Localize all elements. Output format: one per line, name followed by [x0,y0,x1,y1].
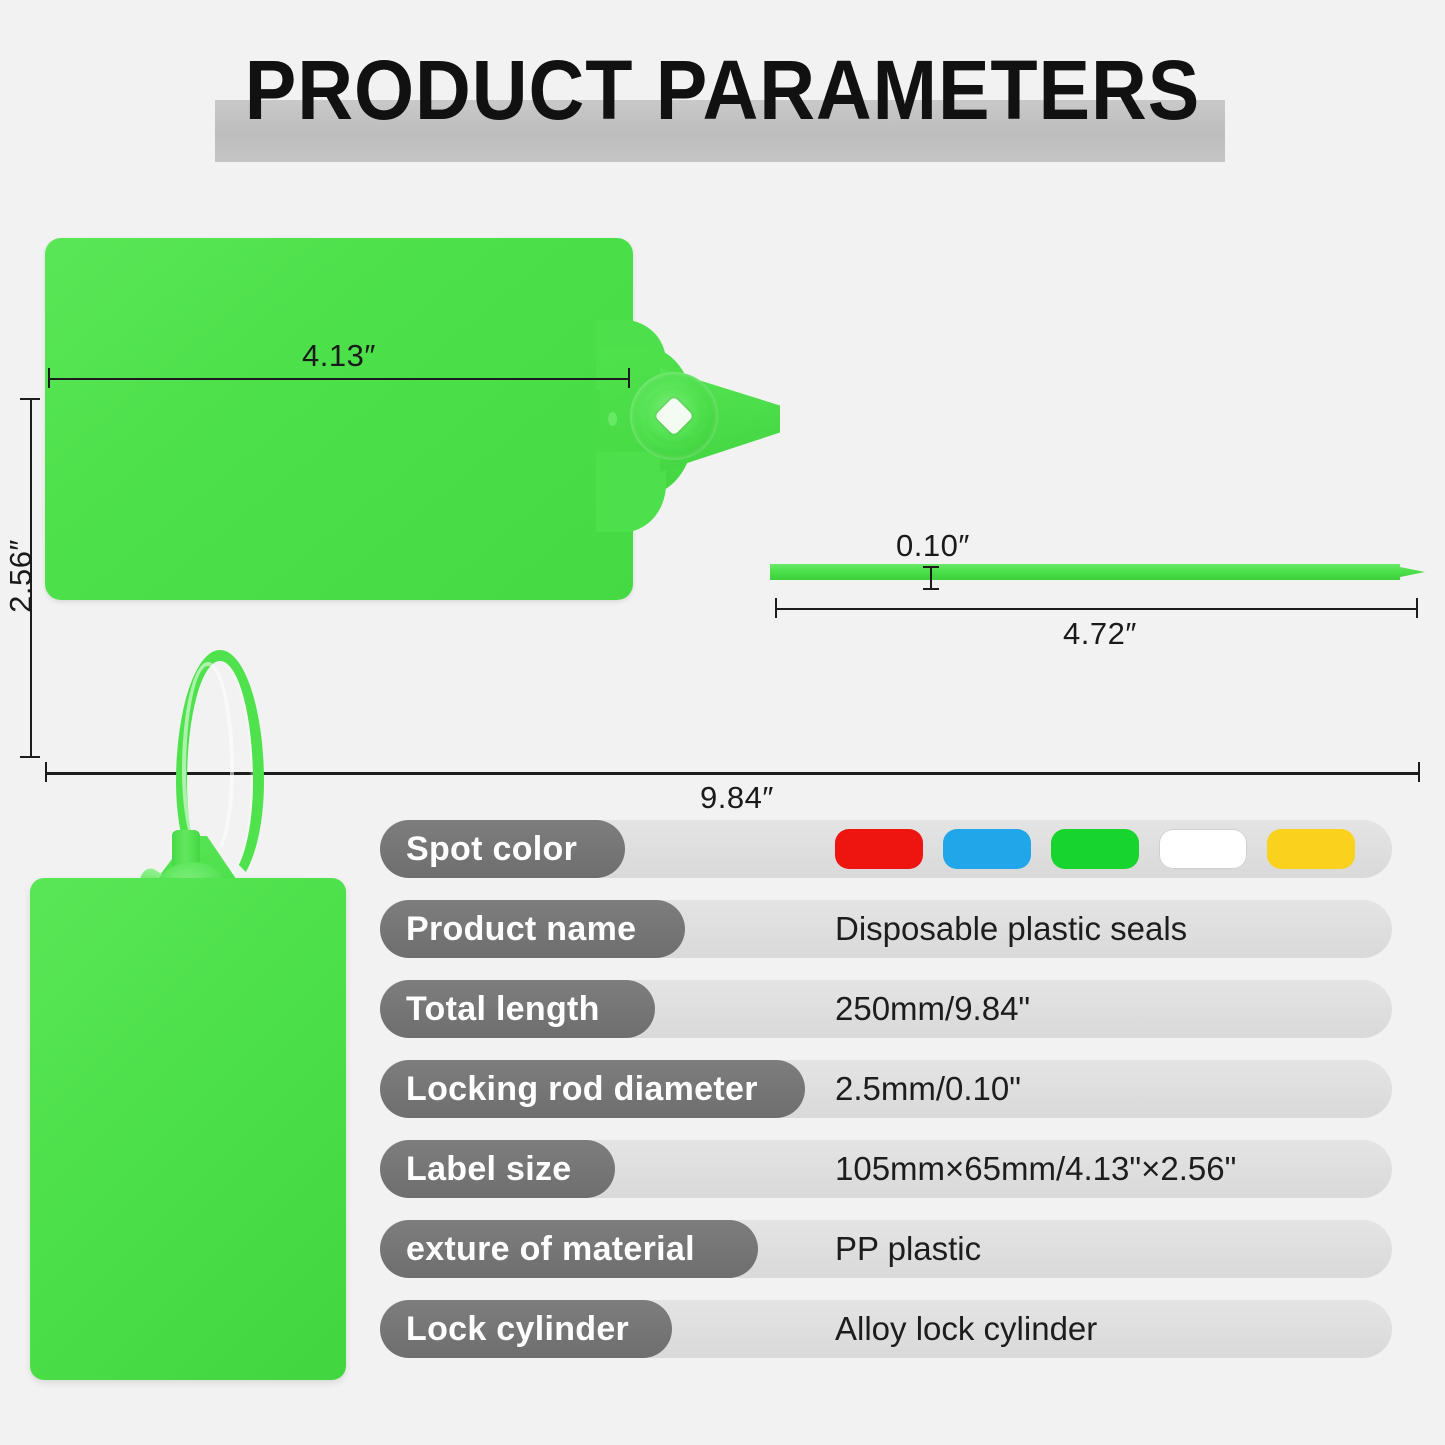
seal-neck-lower [596,452,666,532]
spec-label-pill: Lock cylinder [380,1300,672,1358]
spec-label-text: Product name [406,910,636,949]
sealed-label-panel [30,878,346,1380]
dimension-label-strap-length: 4.72″ [1063,616,1137,652]
spec-label-pill: Locking rod diameter [380,1060,805,1118]
spot-color-swatches [835,820,1355,878]
page-title: PRODUCT PARAMETERS [58,38,1387,142]
spec-row: Total length250mm/9.84" [380,980,1392,1038]
dimension-ibeam-cap-bottom [923,588,939,590]
spec-value-text: 2.5mm/0.10" [835,1060,1021,1118]
spec-label-pill: exture of material [380,1220,758,1278]
spec-value-text: 250mm/9.84" [835,980,1030,1038]
dimension-line-strap-length [775,608,1418,610]
dimension-tick-top [20,398,40,400]
spec-label-pill: Spot color [380,820,625,878]
sealed-tag-photo [0,640,380,1400]
product-parameters-infographic: PRODUCT PARAMETERS 4.13″ 2.56″ 0.10″ [0,0,1445,1445]
seal-strap [770,564,1400,580]
seal-label-panel [45,238,633,600]
spec-label-text: Lock cylinder [406,1310,629,1349]
spec-row: Locking rod diameter2.5mm/0.10" [380,1060,1392,1118]
spec-label-text: Locking rod diameter [406,1070,758,1109]
spec-label-pill: Product name [380,900,685,958]
dimension-ibeam-cap-top [923,566,939,568]
spec-value-text: PP plastic [835,1220,981,1278]
dimension-label-rod-diameter: 0.10″ [896,528,970,564]
spec-label-pill: Total length [380,980,655,1038]
dimension-label-label-height: 2.56″ [3,539,39,613]
seal-strap-tip [1385,564,1425,580]
spec-row: Product nameDisposable plastic seals [380,900,1392,958]
spec-row: Lock cylinderAlloy lock cylinder [380,1300,1392,1358]
spec-value-text: 105mm×65mm/4.13"×2.56" [835,1140,1236,1198]
dimension-line-label-width [48,378,630,380]
dimension-tick-strap-left [775,598,777,618]
dimension-ibeam-rod-diameter [930,568,932,590]
dimension-tick-left [48,368,50,388]
spec-value-text: Disposable plastic seals [835,900,1187,958]
seal-dimple [608,412,617,426]
page-title-block: PRODUCT PARAMETERS [0,38,1445,148]
spec-row: Spot color [380,820,1392,878]
spec-table: Spot colorProduct nameDisposable plastic… [380,820,1392,1380]
spec-row: Label size105mm×65mm/4.13"×2.56" [380,1140,1392,1198]
dimension-label-total-length: 9.84″ [700,780,774,816]
dimension-tick-right [628,368,630,388]
spec-label-text: Label size [406,1150,572,1189]
spec-label-text: exture of material [406,1230,695,1269]
spec-label-text: Total length [406,990,600,1029]
dimension-tick-strap-right [1416,598,1418,618]
dimension-label-label-width: 4.13″ [302,338,376,374]
color-swatch-red[interactable] [835,829,923,869]
seal-dimension-diagram: 4.13″ 2.56″ 0.10″ 4.72″ 9.84″ [0,160,1445,660]
color-swatch-green[interactable] [1051,829,1139,869]
dimension-tick-total-right [1418,762,1420,782]
spec-label-text: Spot color [406,830,577,869]
spec-value-text: Alloy lock cylinder [835,1300,1097,1358]
spec-row: exture of materialPP plastic [380,1220,1392,1278]
color-swatch-white[interactable] [1159,829,1247,869]
spec-label-pill: Label size [380,1140,615,1198]
color-swatch-yellow[interactable] [1267,829,1355,869]
color-swatch-blue[interactable] [943,829,1031,869]
